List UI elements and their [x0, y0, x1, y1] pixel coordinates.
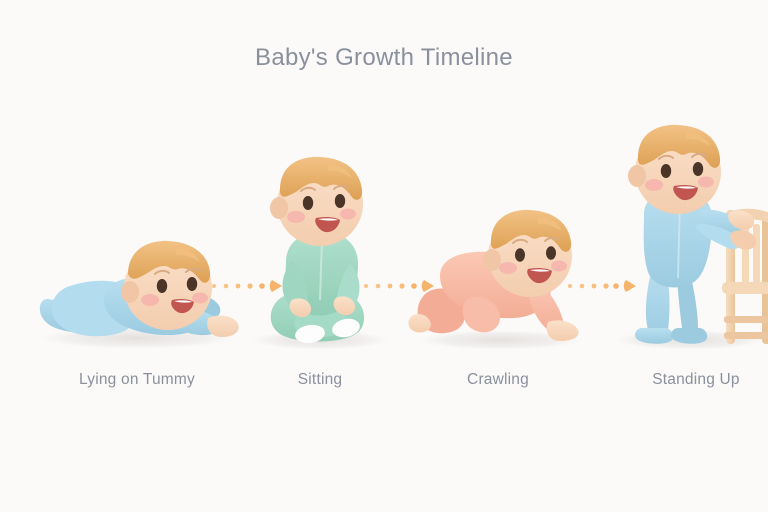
hand-front-icon — [547, 320, 579, 341]
ear-icon — [270, 197, 288, 219]
connector-arrow-3 — [568, 280, 636, 292]
cheek-left-icon — [645, 179, 663, 191]
connector-arrow-1 — [212, 280, 282, 292]
cheek-right-icon — [551, 261, 567, 272]
baby-standing-head — [628, 125, 721, 214]
eye-right-icon — [546, 246, 556, 260]
baby-growth-timeline-infographic: Baby's Growth Timeline — [0, 0, 768, 512]
eye-right-icon — [187, 277, 197, 291]
cheek-right-icon — [698, 177, 714, 188]
stage-label-crawling: Crawling — [428, 371, 568, 389]
eye-left-icon — [661, 164, 671, 178]
timeline-illustration — [0, 0, 768, 512]
cheek-right-icon — [192, 293, 208, 304]
connector-arrow-2 — [364, 280, 434, 292]
ear-icon — [121, 281, 139, 303]
eye-left-icon — [515, 248, 525, 262]
cheek-left-icon — [141, 294, 159, 306]
stage-label-sitting: Sitting — [250, 371, 390, 389]
baby-sitting-head — [270, 157, 363, 246]
eye-left-icon — [157, 279, 167, 293]
stage-standing-up — [612, 125, 768, 350]
baby-lying-hand — [207, 316, 238, 337]
eye-left-icon — [303, 196, 313, 210]
ear-icon — [628, 165, 646, 187]
cheek-left-icon — [287, 211, 305, 223]
stage-label-lying-on-tummy: Lying on Tummy — [47, 371, 227, 389]
stage-sitting — [250, 157, 390, 350]
cheek-left-icon — [499, 262, 517, 274]
cheek-right-icon — [340, 209, 356, 220]
stage-label-standing-up: Standing Up — [606, 371, 768, 389]
eye-right-icon — [335, 194, 345, 208]
ear-icon — [483, 249, 501, 271]
stage-crawling — [408, 210, 584, 350]
eye-right-icon — [693, 162, 703, 176]
stage-lying-on-tummy — [37, 241, 239, 349]
